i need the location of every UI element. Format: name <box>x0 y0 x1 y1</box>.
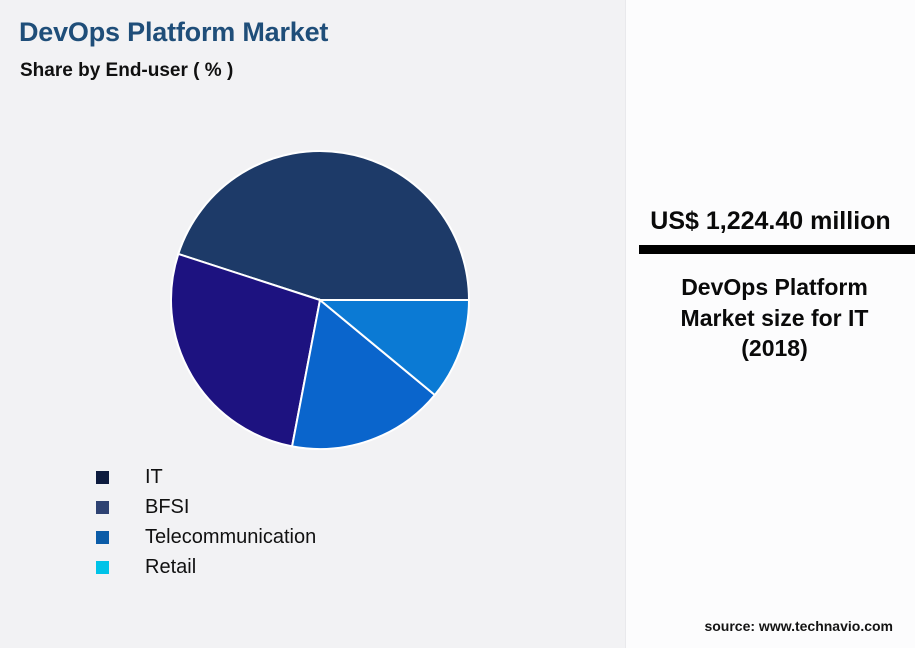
legend-swatch-retail <box>96 561 109 574</box>
legend-item: BFSI <box>96 492 576 522</box>
legend-label-retail: Retail <box>145 556 196 579</box>
legend-item: IT <box>96 462 576 492</box>
chart-figure: DevOps Platform Market Share by End-user… <box>0 0 915 648</box>
legend-label-bfsi: BFSI <box>145 496 189 519</box>
legend-swatch-telecommunication <box>96 531 109 544</box>
legend-swatch-bfsi <box>96 501 109 514</box>
kpi-value: US$ 1,224.40 million <box>626 207 915 236</box>
legend-item: Retail <box>96 552 576 582</box>
source-note: source: www.technavio.com <box>626 618 893 634</box>
kpi-divider <box>639 245 915 254</box>
legend-swatch-it <box>96 471 109 484</box>
chart-subtitle: Share by End-user ( % ) <box>20 60 233 82</box>
legend-label-telecommunication: Telecommunication <box>145 526 316 549</box>
chart-panel: DevOps Platform Market Share by End-user… <box>0 0 622 648</box>
pie-chart-svg: IT 45%BFSI 27%Telecommunication 17%Retai… <box>170 150 470 450</box>
legend-item: Telecommunication <box>96 522 576 552</box>
page-title: DevOps Platform Market <box>19 17 328 48</box>
legend-label-it: IT <box>145 466 163 489</box>
kpi-caption: DevOps Platform Market size for IT (2018… <box>648 272 901 364</box>
chart-legend: IT BFSI Telecommunication Retail <box>96 462 576 582</box>
pie-chart: IT 45%BFSI 27%Telecommunication 17%Retai… <box>170 150 470 450</box>
kpi-panel: US$ 1,224.40 million DevOps Platform Mar… <box>625 0 915 648</box>
